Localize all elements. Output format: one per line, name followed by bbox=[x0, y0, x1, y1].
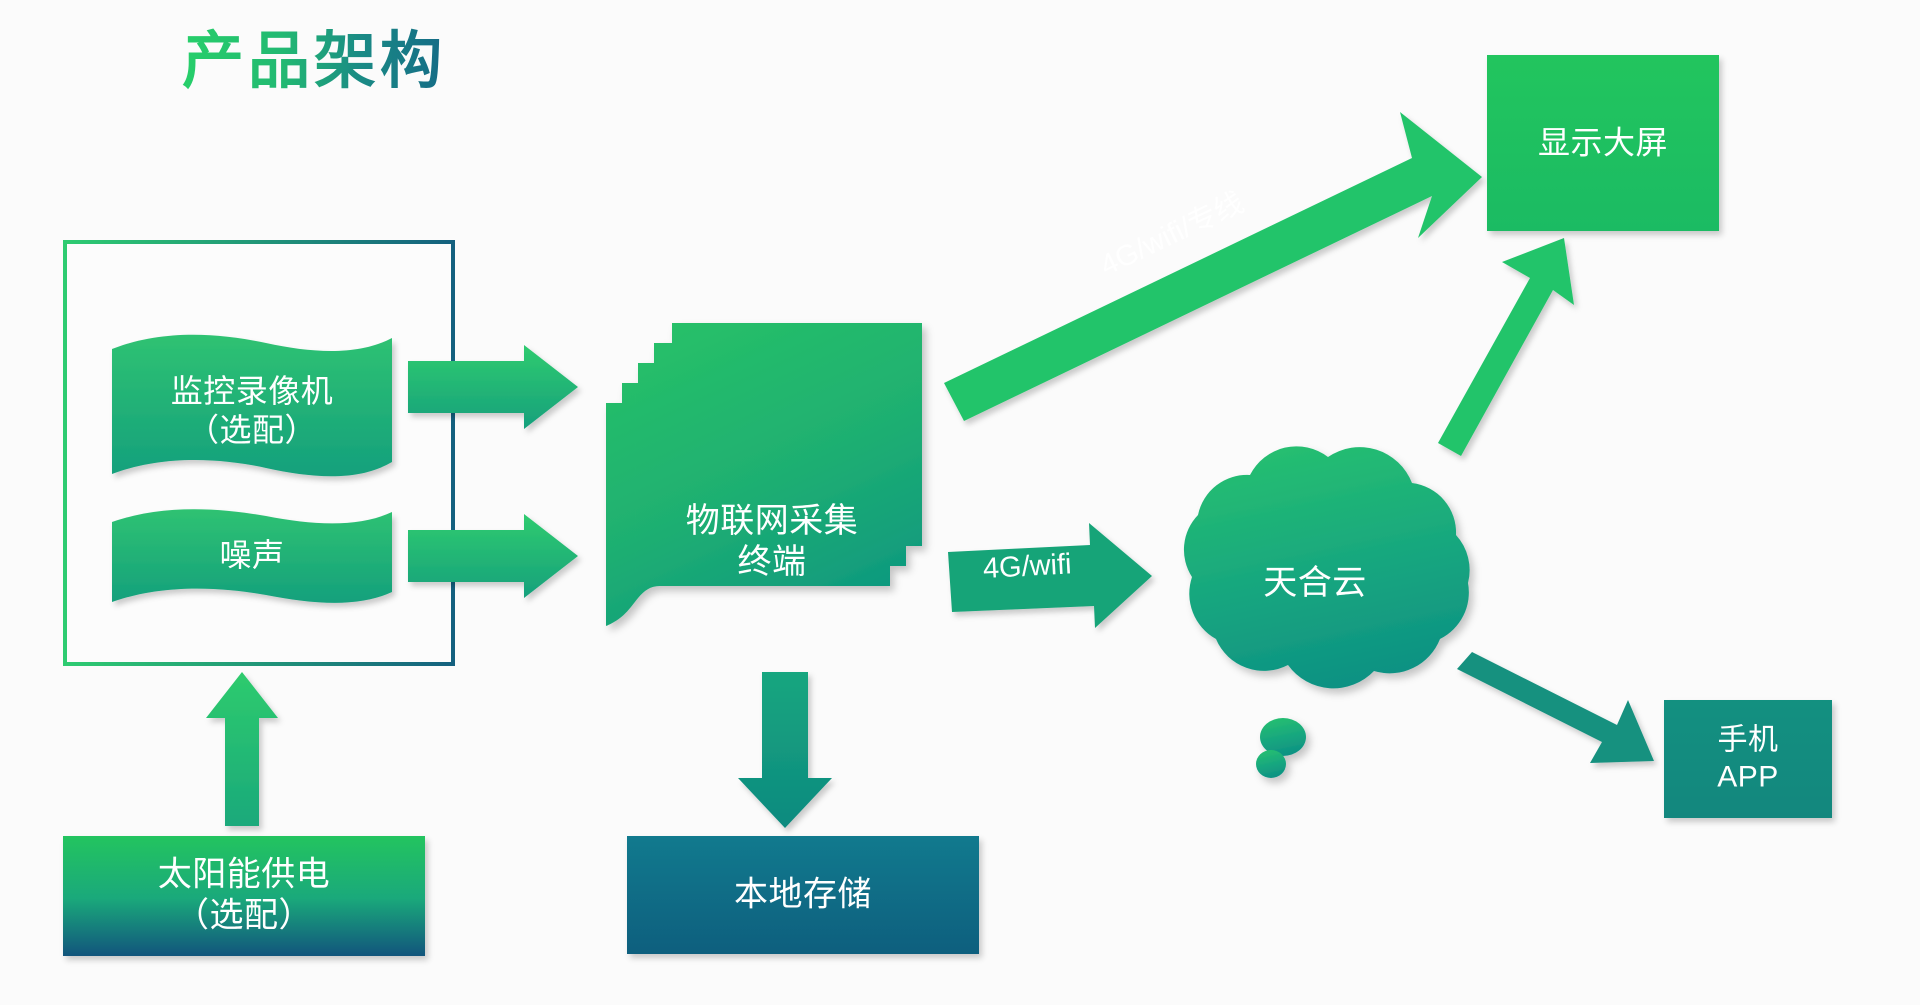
node-solar-power[interactable]: 太阳能供电 （选配） bbox=[63, 836, 425, 956]
node-iot-terminal-label: 物联网采集 终端 bbox=[622, 501, 922, 584]
arrow-noise-to-terminal bbox=[408, 514, 578, 598]
arrow-terminal-to-display bbox=[944, 112, 1482, 421]
arrow-dvr-to-terminal bbox=[408, 345, 578, 429]
diagram-canvas: 产品架构 bbox=[0, 0, 1920, 1005]
node-cloud[interactable]: 天合云 bbox=[1155, 455, 1475, 755]
node-mobile-app-label: 手机 APP bbox=[1664, 722, 1832, 795]
node-solar-power-label: 太阳能供电 （选配） bbox=[63, 855, 425, 938]
node-iot-terminal[interactable]: 物联网采集 终端 bbox=[622, 323, 922, 663]
node-local-storage[interactable]: 本地存储 bbox=[627, 836, 979, 954]
node-cloud-label: 天合云 bbox=[1155, 563, 1475, 604]
node-mobile-app[interactable]: 手机 APP bbox=[1664, 700, 1832, 818]
node-local-storage-label: 本地存储 bbox=[627, 874, 979, 915]
arrow-terminal-to-storage bbox=[738, 672, 832, 828]
node-display-screen-label: 显示大屏 bbox=[1487, 123, 1719, 162]
node-noise[interactable]: 噪声 bbox=[112, 512, 392, 602]
node-dvr-label: 监控录像机 （选配） bbox=[112, 372, 392, 450]
node-dvr[interactable]: 监控录像机 （选配） bbox=[112, 340, 392, 480]
node-noise-label: 噪声 bbox=[112, 536, 392, 575]
arrow-cloud-to-display bbox=[1438, 238, 1574, 456]
arrow-terminal-to-cloud bbox=[948, 523, 1152, 628]
arrow-cloud-to-app bbox=[1457, 652, 1654, 763]
arrow-solar-to-group bbox=[206, 672, 278, 826]
node-display-screen[interactable]: 显示大屏 bbox=[1487, 55, 1719, 231]
